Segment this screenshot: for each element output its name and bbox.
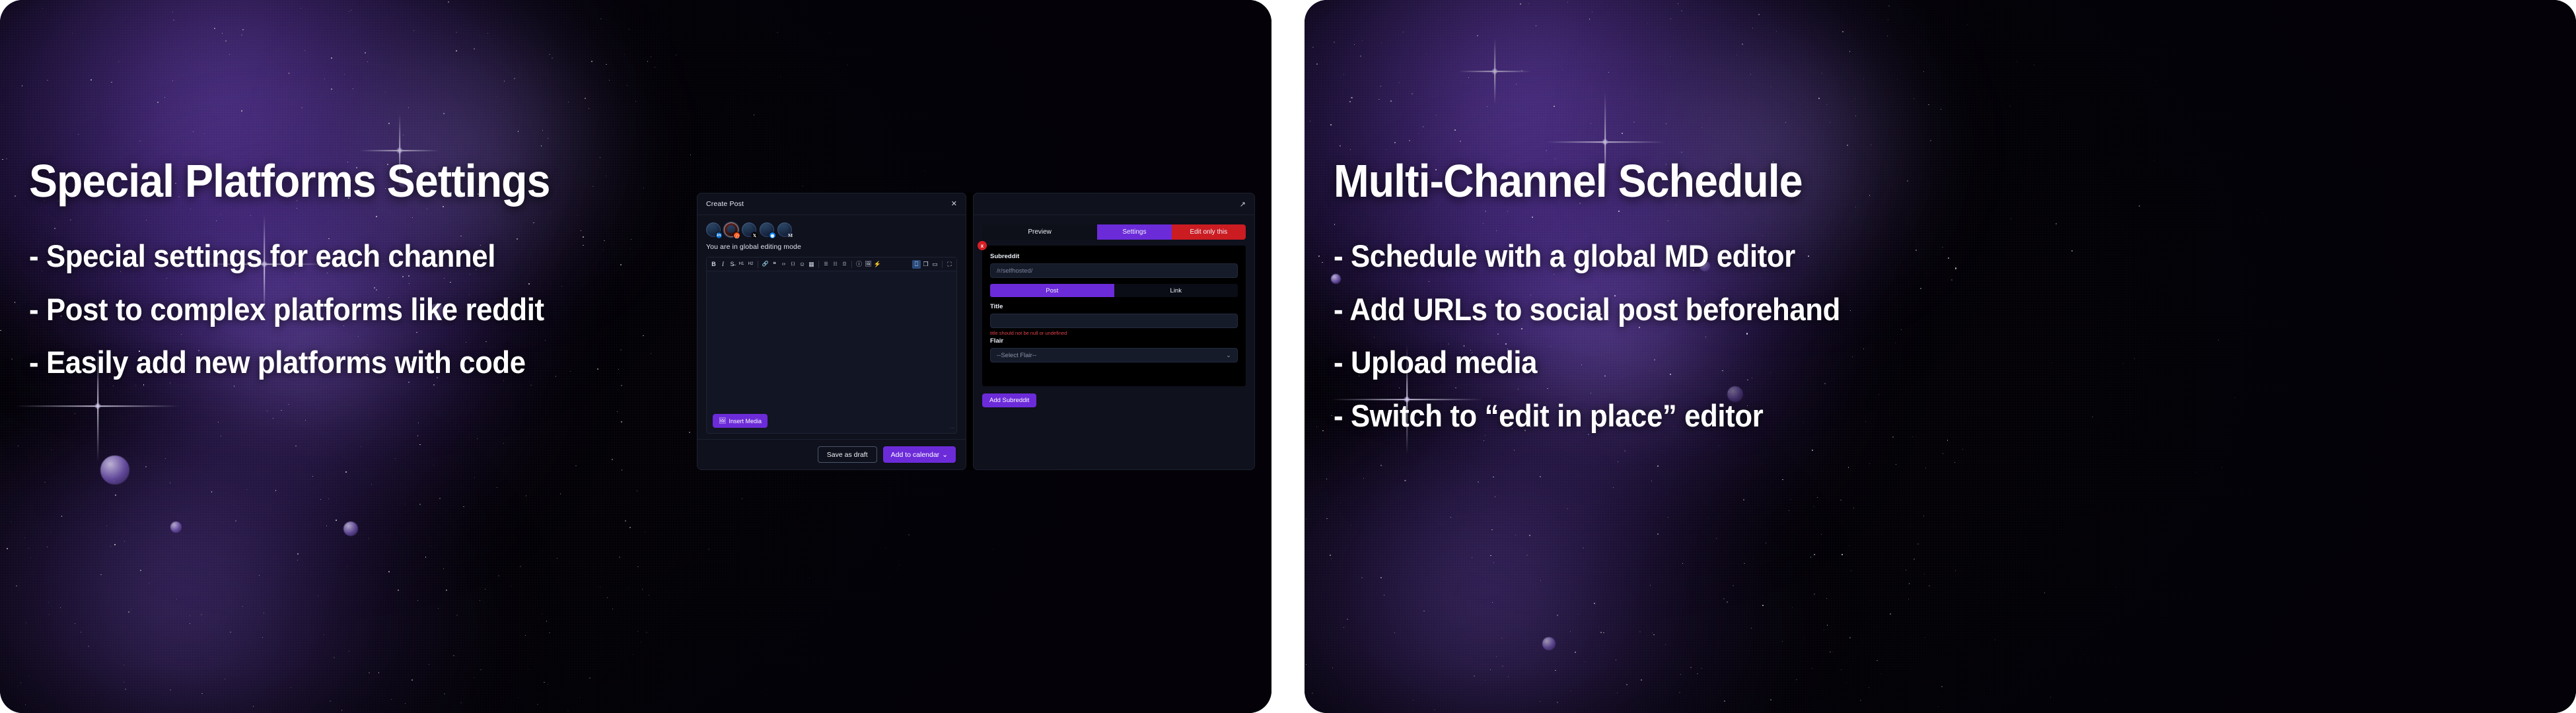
split-view-icon[interactable]: ⎕	[912, 260, 921, 269]
x-icon: 𝕏	[751, 232, 758, 239]
flair-selected-value: --Select Flair--	[997, 352, 1036, 359]
list-item: - Upload media	[1334, 346, 1985, 379]
mastodon-icon: M	[787, 232, 794, 239]
list-item: - Post to complex platforms like reddit	[29, 293, 680, 326]
add-to-calendar-button[interactable]: Add to calendar ⌄	[883, 446, 956, 463]
list-item: - Switch to “edit in place” editor	[1334, 399, 1985, 432]
panel-footer: Save as draft Add to calendar ⌄	[698, 439, 966, 469]
image-icon[interactable]: 🖼	[864, 260, 873, 269]
task-list-icon[interactable]: ☲	[840, 260, 849, 269]
save-draft-button[interactable]: Save as draft	[818, 446, 877, 463]
page-title: Special Platforms Settings	[29, 157, 673, 205]
panel-titlebar: Create Post ✕	[698, 193, 966, 215]
heading-2-icon[interactable]: H2	[746, 260, 755, 269]
platform-settings-panel: ↗ Preview Settings Edit only this x Subr…	[973, 193, 1255, 470]
bullet-list-icon[interactable]: ☰	[822, 260, 830, 269]
list-item: - Easily add new platforms with code	[29, 346, 680, 379]
toolbar-divider	[758, 261, 758, 268]
slide-special-platforms-settings: Special Platforms Settings - Special set…	[0, 0, 1271, 713]
chevron-down-icon: ⌄	[1226, 352, 1231, 359]
bluesky-icon: ◉	[769, 232, 776, 239]
toolbar-divider	[942, 261, 943, 268]
tab-settings[interactable]: Settings	[1097, 224, 1171, 240]
toolbar-divider	[851, 261, 852, 268]
bullet-list: - Schedule with a global MD editor - Add…	[1334, 240, 2034, 432]
title-label: Title	[990, 303, 1238, 310]
table-icon[interactable]: ▦	[807, 260, 816, 269]
ordered-list-icon[interactable]: ☷	[831, 260, 840, 269]
avatar-mastodon[interactable]: M	[777, 222, 792, 237]
app-screenshot: Create Post ✕ in ⓡ 𝕏 ◉ M You are in glob…	[697, 193, 1255, 470]
resize-handle[interactable]: ⋯	[950, 426, 954, 431]
account-avatar-row: in ⓡ 𝕏 ◉ M	[698, 215, 966, 240]
code-block-icon[interactable]: {;}	[789, 260, 797, 269]
expand-icon[interactable]: ↗	[1240, 200, 1246, 209]
list-item: - Add URLs to social post beforehand	[1334, 293, 1985, 326]
insert-media-label: Insert Media	[729, 418, 762, 424]
image-icon: 🖼	[719, 417, 726, 424]
panel-tabs: Preview Settings Edit only this	[982, 224, 1246, 240]
editing-mode-notice: You are in global editing mode	[698, 240, 966, 257]
subreddit-label: Subreddit	[990, 253, 1238, 260]
panel-title: Create Post	[706, 200, 744, 208]
title-input[interactable]	[990, 314, 1238, 328]
link-icon[interactable]: 🔗	[761, 260, 769, 269]
chevron-down-icon: ⌄	[942, 451, 948, 459]
slide-multi-channel-schedule: Multi-Channel Schedule - Schedule with a…	[1305, 0, 2576, 713]
page-title: Multi-Channel Schedule	[1334, 157, 1978, 205]
slide-copy: Multi-Channel Schedule - Schedule with a…	[1334, 157, 2034, 432]
linkedin-icon: in	[715, 232, 723, 239]
add-to-calendar-label: Add to calendar	[891, 451, 940, 459]
heading-1-icon[interactable]: H1	[737, 260, 746, 269]
lightning-icon[interactable]: ⚡	[873, 260, 882, 269]
fullscreen-icon[interactable]: ⛶	[945, 260, 954, 269]
subreddit-settings-card: x Subreddit /r/selfhosted/ Post Link Tit…	[982, 246, 1246, 386]
flair-select[interactable]: --Select Flair-- ⌄	[990, 348, 1238, 362]
preview-only-icon[interactable]: ❐	[921, 260, 930, 269]
card-spacer	[990, 362, 1238, 377]
toolbar-divider	[818, 261, 819, 268]
markdown-editor: B I S̶ H1 H2 🔗 ❝ ‹› {;} ☺ ▦ ☰	[706, 257, 957, 434]
reddit-icon: ⓡ	[733, 232, 740, 239]
presentation-stage: Special Platforms Settings - Special set…	[0, 0, 2576, 713]
tab-preview[interactable]: Preview	[982, 224, 1097, 240]
avatar-linkedin[interactable]: in	[706, 222, 721, 237]
italic-icon[interactable]: I	[719, 260, 727, 269]
strikethrough-icon[interactable]: S̶	[728, 260, 736, 269]
editor-toolbar: B I S̶ H1 H2 🔗 ❝ ‹› {;} ☺ ▦ ☰	[707, 257, 956, 271]
tab-edit-only-this[interactable]: Edit only this	[1172, 224, 1246, 240]
add-subreddit-button[interactable]: Add Subreddit	[982, 393, 1036, 407]
emoji-icon[interactable]: ☺	[798, 260, 806, 269]
editor-textarea[interactable]	[707, 271, 956, 433]
post-type-link[interactable]: Link	[1114, 284, 1238, 297]
slide-copy: Special Platforms Settings - Special set…	[29, 157, 729, 379]
avatar-reddit[interactable]: ⓡ	[724, 222, 738, 237]
info-icon[interactable]: ⓘ	[855, 260, 863, 269]
avatar-bluesky[interactable]: ◉	[760, 222, 774, 237]
source-only-icon[interactable]: ▭	[931, 260, 939, 269]
code-icon[interactable]: ‹›	[779, 260, 788, 269]
insert-media-button[interactable]: 🖼 Insert Media	[713, 414, 768, 428]
list-item: - Schedule with a global MD editor	[1334, 240, 1985, 273]
list-item: - Special settings for each channel	[29, 240, 680, 273]
subreddit-input[interactable]: /r/selfhosted/	[990, 263, 1238, 278]
flair-label: Flair	[990, 337, 1238, 345]
bullet-list: - Special settings for each channel - Po…	[29, 240, 729, 379]
post-type-toggle: Post Link	[990, 284, 1238, 297]
title-error-message: title should not be null or undefined	[990, 330, 1238, 336]
post-type-post[interactable]: Post	[990, 284, 1114, 297]
close-icon[interactable]: ✕	[951, 201, 957, 208]
blockquote-icon[interactable]: ❝	[770, 260, 779, 269]
bold-icon[interactable]: B	[709, 260, 718, 269]
avatar-x[interactable]: 𝕏	[742, 222, 756, 237]
panel-titlebar: ↗	[974, 193, 1254, 215]
remove-subreddit-button[interactable]: x	[978, 241, 987, 250]
create-post-panel: Create Post ✕ in ⓡ 𝕏 ◉ M You are in glob…	[697, 193, 966, 470]
